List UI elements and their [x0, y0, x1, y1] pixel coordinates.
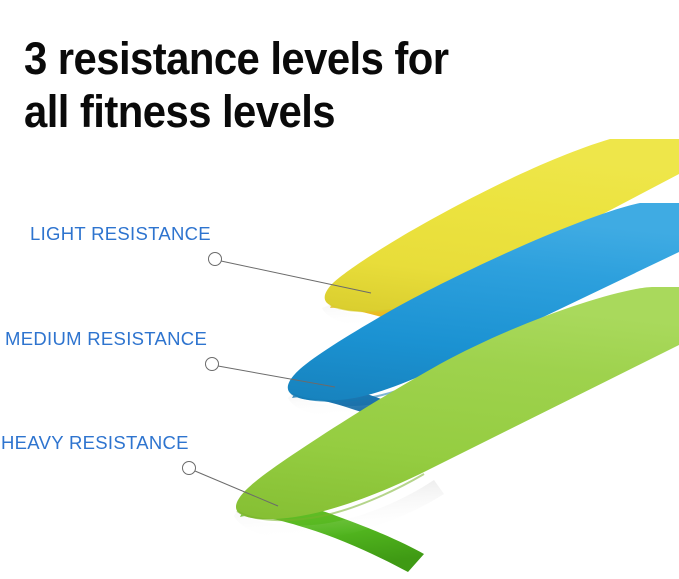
callout-light [209, 253, 372, 294]
callout-medium-marker [206, 358, 219, 371]
callout-heavy-marker [183, 462, 196, 475]
callout-medium-leader-line [218, 366, 335, 387]
callout-label-medium: MEDIUM RESISTANCE [5, 328, 207, 350]
callout-light-leader-line [221, 261, 371, 293]
callout-leader-lines [0, 0, 679, 579]
callout-label-heavy: HEAVY RESISTANCE [1, 432, 189, 454]
callout-light-marker [209, 253, 222, 266]
callout-label-light: LIGHT RESISTANCE [30, 223, 211, 245]
product-infographic: 3 resistance levels for all fitness leve… [0, 0, 679, 579]
callout-heavy-leader-line [195, 471, 278, 506]
callout-heavy [183, 462, 279, 507]
callout-medium [206, 358, 336, 388]
